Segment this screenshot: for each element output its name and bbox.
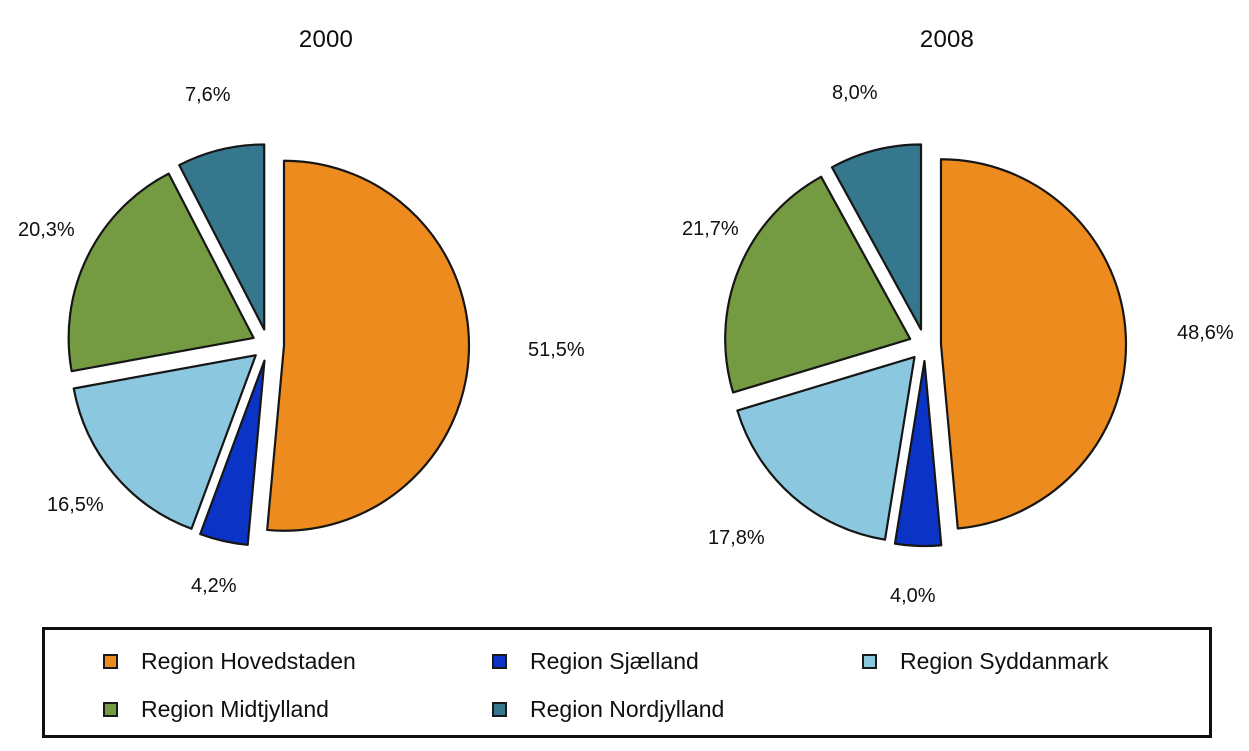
pie-chart-figure: 2000 7,6% 20,3% 16,5% 4,2% 51,5% 2008 8,…	[0, 0, 1249, 751]
pct-label-midtjylland-2008: 21,7%	[682, 218, 739, 241]
pie-slice-syddanmark-2008[interactable]	[737, 357, 914, 540]
pie-chart-2008	[625, 0, 1249, 615]
legend-swatch-syddanmark-icon	[862, 654, 877, 669]
pct-label-syddanmark-2000: 16,5%	[47, 494, 104, 517]
legend-item-hovedstaden[interactable]: Region Hovedstaden	[103, 644, 356, 678]
chart-panel-2000: 2000 7,6% 20,3% 16,5% 4,2% 51,5%	[0, 0, 624, 615]
legend-item-sjaelland[interactable]: Region Sjælland	[492, 644, 699, 678]
pie-chart-2000	[0, 0, 624, 615]
legend-label-hovedstaden: Region Hovedstaden	[141, 648, 356, 675]
pct-label-syddanmark-2008: 17,8%	[708, 527, 765, 550]
pie-slice-hovedstaden-2000[interactable]	[267, 161, 469, 531]
pct-label-sjaelland-2000: 4,2%	[191, 575, 237, 598]
pct-label-nordjylland-2008: 8,0%	[832, 82, 878, 105]
pct-label-sjaelland-2008: 4,0%	[890, 585, 936, 608]
legend-swatch-sjaelland-icon	[492, 654, 507, 669]
legend-item-syddanmark[interactable]: Region Syddanmark	[862, 644, 1108, 678]
pct-label-midtjylland-2000: 20,3%	[18, 219, 75, 242]
pie-slice-hovedstaden-2008[interactable]	[941, 159, 1126, 528]
legend-label-nordjylland: Region Nordjylland	[530, 696, 724, 723]
pct-label-nordjylland-2000: 7,6%	[185, 84, 231, 107]
legend-swatch-nordjylland-icon	[492, 702, 507, 717]
chart-panel-2008: 2008 8,0% 21,7% 17,8% 4,0% 48,6%	[625, 0, 1249, 615]
legend-item-nordjylland[interactable]: Region Nordjylland	[492, 692, 724, 726]
legend-swatch-hovedstaden-icon	[103, 654, 118, 669]
legend-label-syddanmark: Region Syddanmark	[900, 648, 1108, 675]
legend-item-midtjylland[interactable]: Region Midtjylland	[103, 692, 329, 726]
pct-label-hovedstaden-2008: 48,6%	[1177, 322, 1234, 345]
legend: Region Hovedstaden Region Sjælland Regio…	[42, 627, 1212, 738]
legend-label-sjaelland: Region Sjælland	[530, 648, 699, 675]
legend-label-midtjylland: Region Midtjylland	[141, 696, 329, 723]
pct-label-hovedstaden-2000: 51,5%	[528, 339, 585, 362]
legend-swatch-midtjylland-icon	[103, 702, 118, 717]
